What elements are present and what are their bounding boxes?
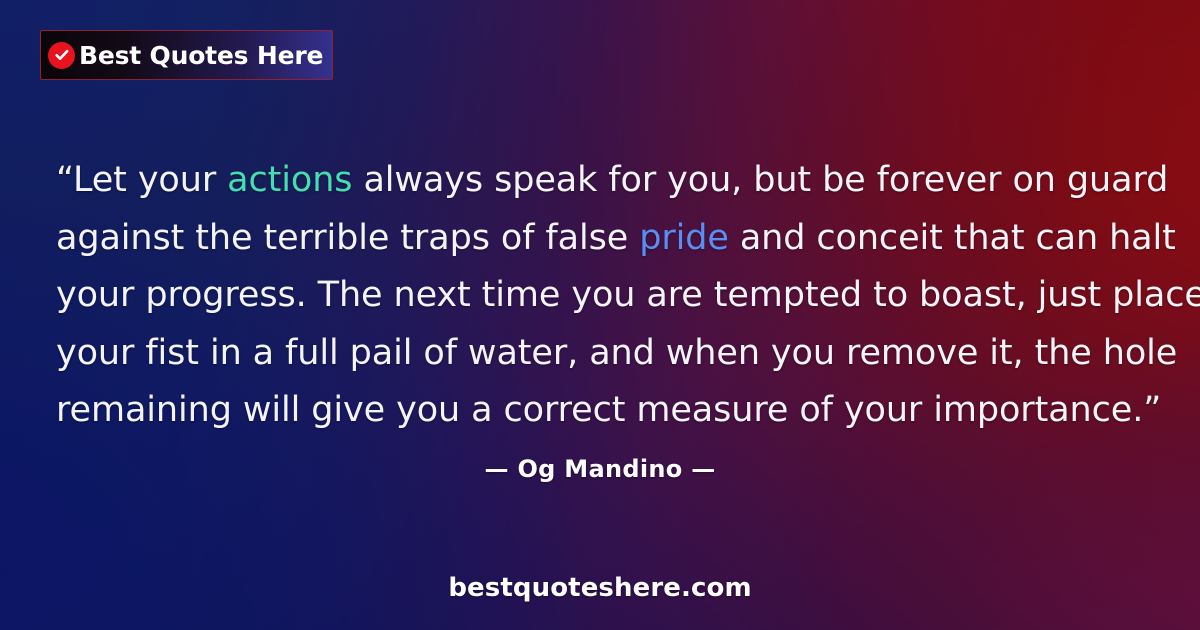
check-circle-icon	[48, 42, 75, 69]
quote-line-3: your progress. The next time you are tem…	[56, 267, 1144, 325]
quote-segment: and conceit that can halt	[729, 218, 1176, 258]
quote-text: “Let your actions always speak for you, …	[0, 152, 1200, 440]
quote-author: — Og Mandino —	[0, 455, 1200, 483]
quote-highlight-actions: actions	[227, 160, 352, 200]
quote-segment: always speak for you, but be forever on …	[352, 160, 1168, 200]
quote-line-1: “Let your actions always speak for you, …	[56, 152, 1144, 210]
quote-highlight-pride: pride	[639, 218, 729, 258]
quote-segment: against the terrible traps of false	[56, 218, 639, 258]
quote-segment: remaining will give you a correct measur…	[56, 390, 1161, 430]
quote-segment: your progress. The next time you are tem…	[56, 275, 1200, 315]
quote-segment: “Let your	[56, 160, 227, 200]
brand-badge[interactable]: Best Quotes Here	[40, 30, 333, 80]
quote-line-2: against the terrible traps of false prid…	[56, 210, 1144, 268]
quote-segment: your fist in a full pail of water, and w…	[56, 333, 1177, 373]
quote-line-5: remaining will give you a correct measur…	[56, 382, 1144, 440]
quote-line-4: your fist in a full pail of water, and w…	[56, 325, 1144, 383]
quote-card: Best Quotes Here “Let your actions alway…	[0, 0, 1200, 630]
brand-name: Best Quotes Here	[79, 43, 323, 68]
site-url: bestquoteshere.com	[0, 573, 1200, 603]
